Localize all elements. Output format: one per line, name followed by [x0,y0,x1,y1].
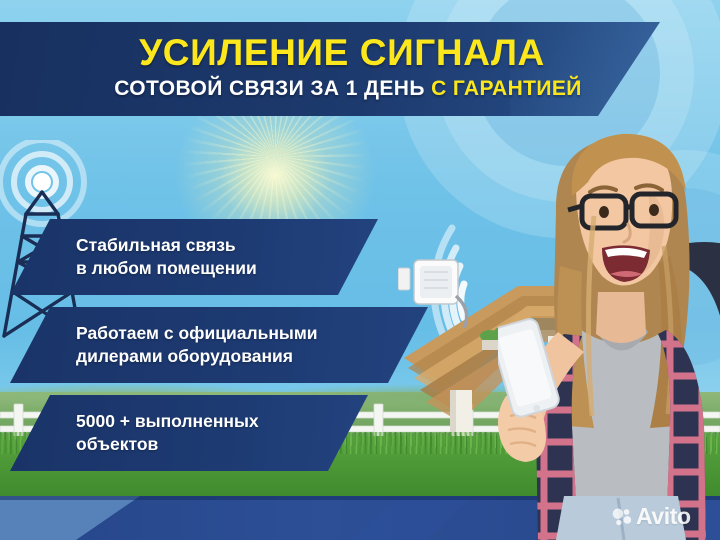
feature-1-line-1: Стабильная связь [76,234,378,257]
woman-with-smartphone [498,96,720,540]
feature-banner-1: Стабильная связь в любом помещении [10,219,378,295]
feature-2-line-1: Работаем с официальными [76,322,428,345]
title-line-1: УСИЛЕНИЕ СИГНАЛА [0,34,720,71]
feature-3-line-1: 5000 + выполненных [76,410,368,433]
feature-banner-3: 5000 + выполненных объектов [10,395,368,471]
advertisement-banner: УСИЛЕНИЕ СИГНАЛА СОТОВОЙ СВЯЗИ ЗА 1 ДЕНЬ… [0,0,720,540]
feature-3-line-2: объектов [76,433,368,456]
feature-1-line-2: в любом помещении [76,257,378,280]
feature-2-line-2: дилерами оборудования [76,345,428,368]
feature-banner-2: Работаем с официальными дилерами оборудо… [10,307,428,383]
title-line-2-white: СОТОВОЙ СВЯЗИ ЗА 1 ДЕНЬ [114,77,425,100]
